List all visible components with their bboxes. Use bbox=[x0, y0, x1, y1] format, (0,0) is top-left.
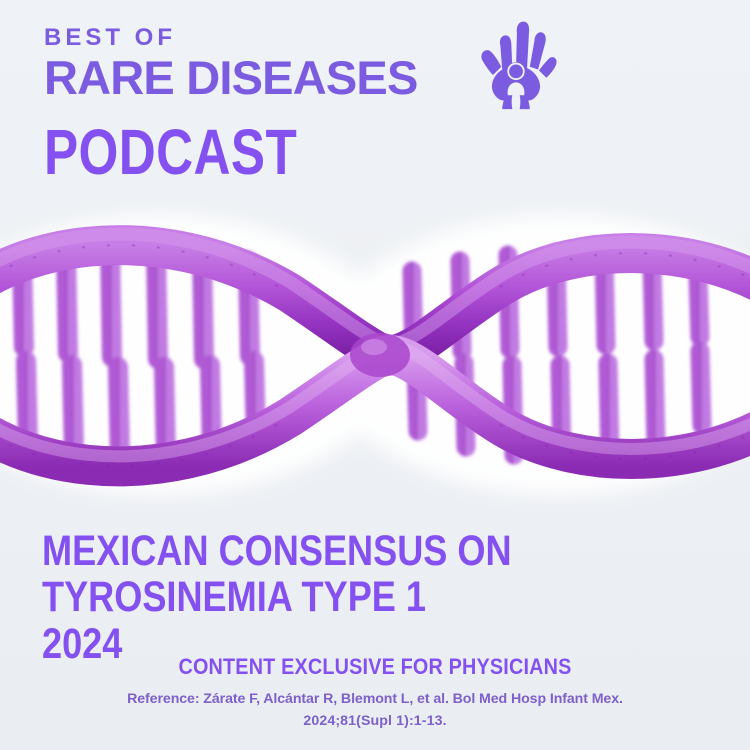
episode-title: MEXICAN CONSENSUS ON TYROSINEMIA TYPE 1 … bbox=[42, 528, 662, 667]
hand-with-person-icon bbox=[470, 18, 562, 110]
dna-double-helix-illustration bbox=[0, 175, 750, 535]
brand-name-label: RARE DISEASES bbox=[44, 54, 418, 102]
footer: CONTENT EXCLUSIVE FOR PHYSICIANS Referen… bbox=[0, 655, 750, 732]
podcast-cover: BEST OF RARE DISEASES bbox=[0, 0, 750, 750]
brand-row: BEST OF RARE DISEASES bbox=[44, 26, 574, 110]
episode-title-line-2: TYROSINEMIA TYPE 1 bbox=[42, 574, 563, 620]
brand-best-of-label: BEST OF bbox=[44, 26, 418, 50]
reference-line-1: Reference: Zárate F, Alcántar R, Blemont… bbox=[40, 688, 710, 710]
exclusive-notice: CONTENT EXCLUSIVE FOR PHYSICIANS bbox=[74, 655, 677, 679]
brand-wordmark: BEST OF RARE DISEASES bbox=[44, 26, 418, 102]
episode-title-line-1: MEXICAN CONSENSUS ON bbox=[42, 528, 563, 574]
podcast-label: PODCAST bbox=[44, 122, 468, 183]
reference-line-2: 2024;81(Supl 1):1-13. bbox=[40, 710, 710, 732]
brand-header: BEST OF RARE DISEASES bbox=[44, 26, 574, 183]
